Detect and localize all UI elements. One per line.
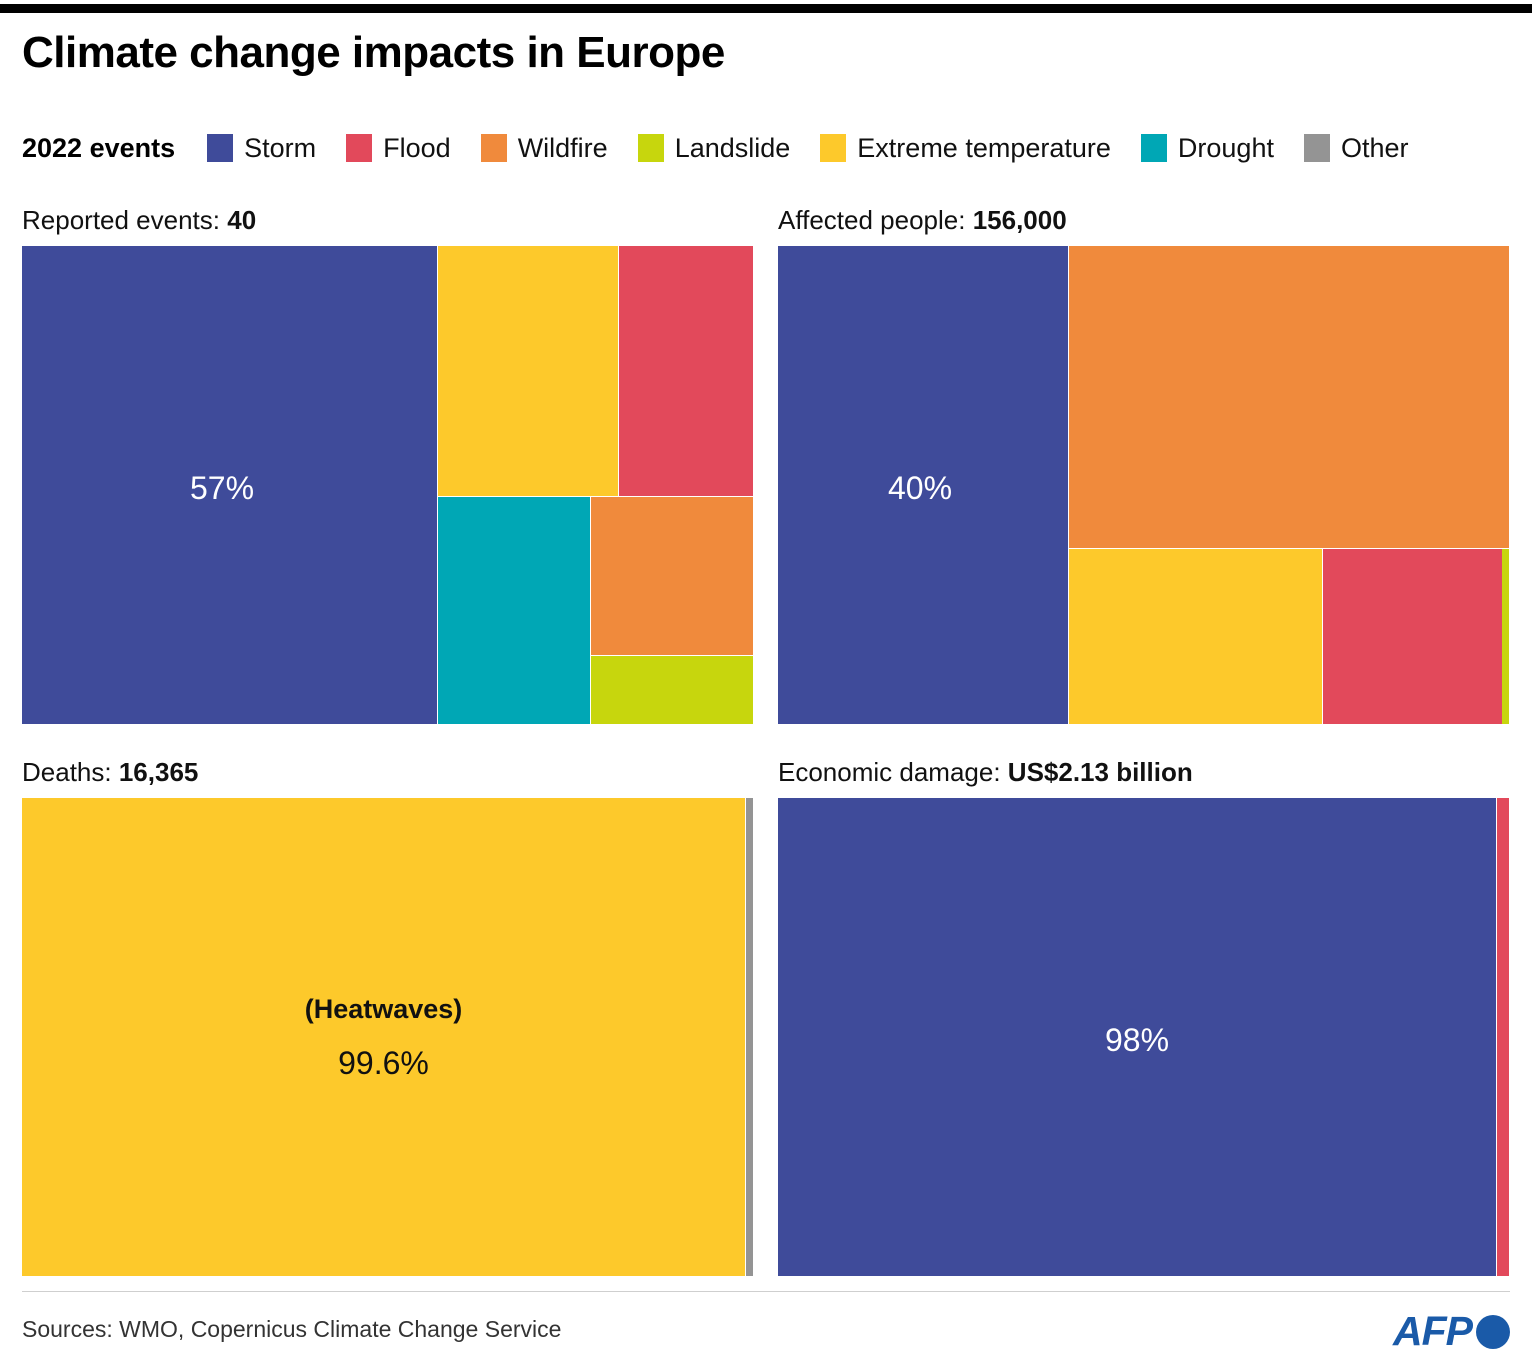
legend-swatch-wildfire (481, 134, 507, 162)
legend-swatch-drought (1141, 134, 1167, 162)
treemap-label-extreme-temperature-sub: (Heatwaves) (22, 993, 745, 1027)
legend-title: 2022 events (22, 133, 175, 164)
panel-deaths: Deaths: 16,365 (Heatwaves) 99.6% (22, 757, 753, 1276)
legend-item-flood: Flood (346, 133, 451, 164)
treemap-label-storm: 98% (778, 1020, 1496, 1060)
footer-divider (22, 1291, 1510, 1292)
panel-affected-people: Affected people: 156,000 40% (778, 205, 1509, 724)
afp-logo-dot-icon (1476, 1315, 1510, 1349)
treemap-economic-damage: 98% (778, 798, 1509, 1276)
panel-heading-economic-damage: Economic damage: US$2.13 billion (778, 757, 1509, 788)
treemap-cell-landslide[interactable] (591, 656, 753, 724)
treemap-label-storm: 40% (888, 468, 952, 508)
treemap-cell-extreme-temperature[interactable] (1069, 549, 1322, 724)
panel-heading-value: US$2.13 billion (1008, 757, 1193, 787)
legend-swatch-flood (346, 134, 372, 162)
treemap-affected-people: 40% (778, 246, 1509, 724)
legend-label-storm: Storm (244, 133, 316, 164)
treemap-cell-landslide[interactable] (1502, 549, 1509, 724)
treemap-label-storm-value: 98% (1105, 1022, 1169, 1058)
legend-item-extreme-temperature: Extreme temperature (820, 133, 1111, 164)
treemap-label-storm: 57% (190, 468, 254, 508)
treemap-cell-wildfire[interactable] (591, 497, 753, 655)
panel-heading-affected-people: Affected people: 156,000 (778, 205, 1509, 236)
legend-item-landslide: Landslide (638, 133, 791, 164)
treemap-label-extreme-temperature-value: 99.6% (338, 1045, 429, 1081)
legend-swatch-storm (207, 134, 233, 162)
afp-logo-text: AFP (1393, 1308, 1472, 1355)
legend-label-extreme-temperature: Extreme temperature (857, 133, 1111, 164)
panel-heading-label: Deaths: (22, 757, 112, 787)
legend-item-other: Other (1304, 133, 1409, 164)
treemap-cell-flood[interactable] (619, 246, 753, 496)
legend: 2022 events Storm Flood Wildfire Landsli… (22, 130, 1439, 166)
panel-heading-label: Affected people: (778, 205, 965, 235)
legend-swatch-extreme-temperature (820, 134, 846, 162)
treemap-cell-extreme-temperature[interactable] (438, 246, 618, 496)
legend-item-wildfire: Wildfire (481, 133, 608, 164)
panel-heading-deaths: Deaths: 16,365 (22, 757, 753, 788)
legend-swatch-landslide (638, 134, 664, 162)
panel-heading-label: Economic damage: (778, 757, 1001, 787)
panel-heading-label: Reported events: (22, 205, 220, 235)
treemap-reported-events: 57% (22, 246, 753, 724)
panel-heading-reported-events: Reported events: 40 (22, 205, 753, 236)
treemap-label-storm-value: 40% (888, 470, 952, 506)
page-title: Climate change impacts in Europe (22, 28, 725, 78)
legend-label-drought: Drought (1178, 133, 1274, 164)
treemap-cell-flood[interactable] (1497, 798, 1509, 1276)
legend-label-wildfire: Wildfire (518, 133, 608, 164)
afp-logo: AFP (1393, 1308, 1510, 1355)
legend-label-landslide: Landslide (675, 133, 791, 164)
treemap-cell-flood[interactable] (1323, 549, 1502, 724)
panel-heading-value: 40 (227, 205, 256, 235)
legend-item-storm: Storm (207, 133, 316, 164)
legend-item-drought: Drought (1141, 133, 1274, 164)
legend-label-flood: Flood (383, 133, 451, 164)
panel-heading-value: 156,000 (973, 205, 1067, 235)
treemap-label-extreme-temperature: (Heatwaves) 99.6% (22, 993, 745, 1083)
treemap-cell-drought[interactable] (438, 497, 590, 724)
legend-label-other: Other (1341, 133, 1409, 164)
treemap-label-storm-value: 57% (190, 470, 254, 506)
treemap-cell-wildfire[interactable] (1069, 246, 1509, 548)
panel-heading-value: 16,365 (119, 757, 199, 787)
panel-reported-events: Reported events: 40 57% (22, 205, 753, 724)
legend-swatch-other (1304, 134, 1330, 162)
treemap-deaths: (Heatwaves) 99.6% (22, 798, 753, 1276)
treemap-cell-other[interactable] (746, 798, 753, 1276)
top-rule-divider (0, 4, 1532, 13)
sources-text: Sources: WMO, Copernicus Climate Change … (22, 1316, 561, 1343)
infographic-page: Climate change impacts in Europe 2022 ev… (0, 0, 1532, 1360)
panel-economic-damage: Economic damage: US$2.13 billion 98% (778, 757, 1509, 1276)
